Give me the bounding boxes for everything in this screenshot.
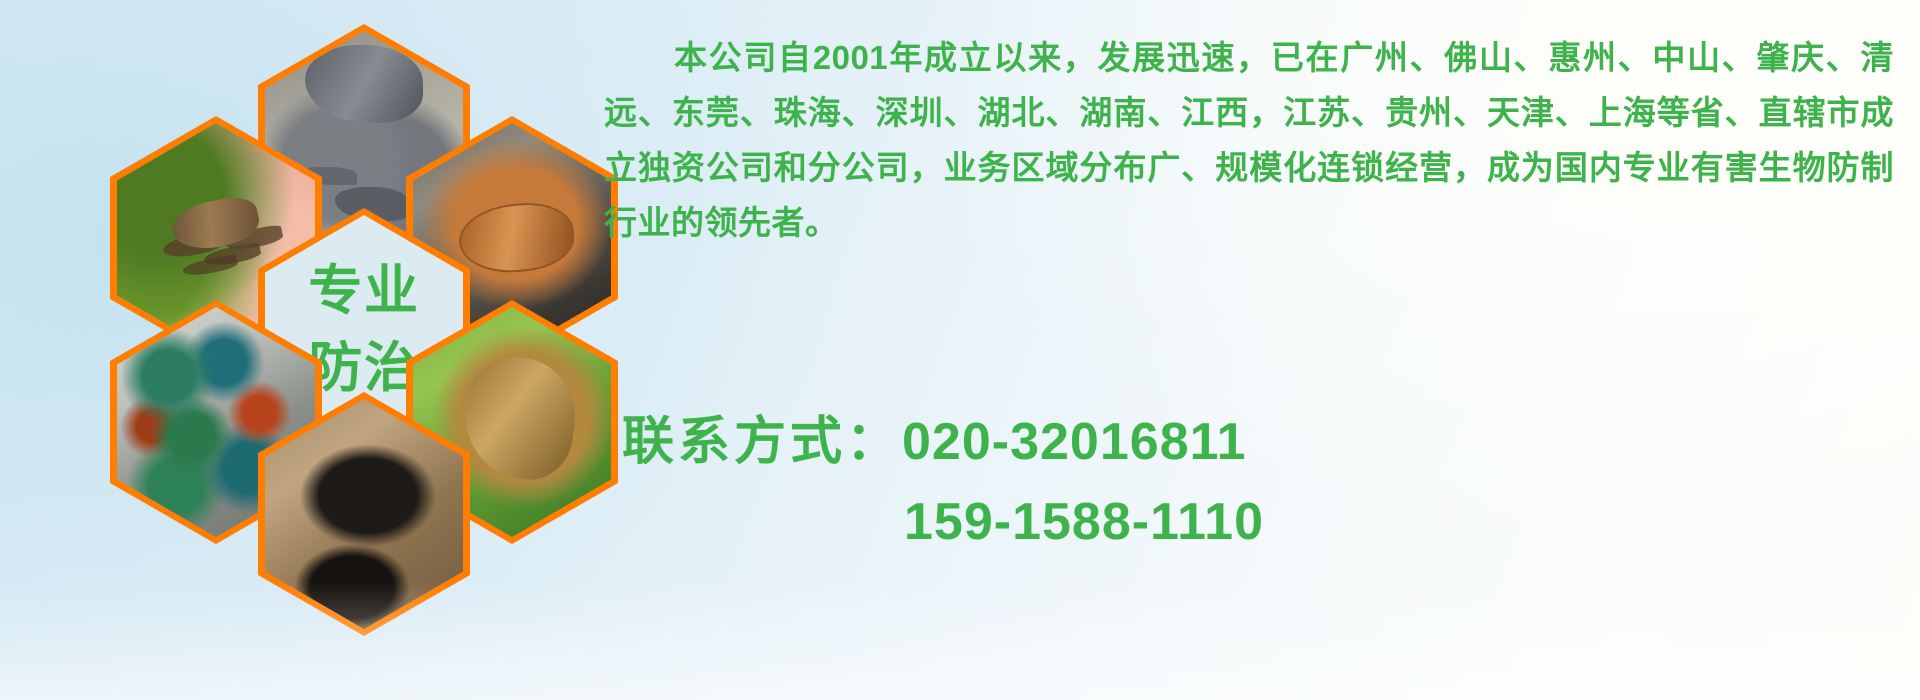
contact-block: 联系方式：020-32016811 159-1588-1110 [622, 402, 1902, 562]
contact-primary-line: 联系方式：020-32016811 [622, 402, 1902, 482]
ant-photo [265, 399, 463, 629]
collage-headline: 专业 防治 [308, 263, 419, 396]
collage-headline-line1: 专业 [308, 263, 419, 320]
collage-headline-line2: 防治 [308, 340, 419, 397]
phone-secondary[interactable]: 159-1588-1110 [904, 493, 1264, 551]
company-intro-banner: 专业 防治 本公司自2001年成立以来，发展迅速，已在广州、佛山、惠州、中山、肇 [0, 0, 1920, 700]
contact-label: 联系方式： [622, 413, 902, 471]
intro-paragraph: 本公司自2001年成立以来，发展迅速，已在广州、佛山、惠州、中山、肇庆、清远、东… [604, 30, 1894, 250]
hex-inner [265, 399, 463, 629]
contact-secondary-line: 159-1588-1110 [622, 482, 1902, 562]
phone-primary[interactable]: 020-32016811 [902, 413, 1247, 471]
intro-text-block: 本公司自2001年成立以来，发展迅速，已在广州、佛山、惠州、中山、肇庆、清远、东… [604, 30, 1904, 250]
honeycomb-photo-collage: 专业 防治 [0, 0, 600, 700]
